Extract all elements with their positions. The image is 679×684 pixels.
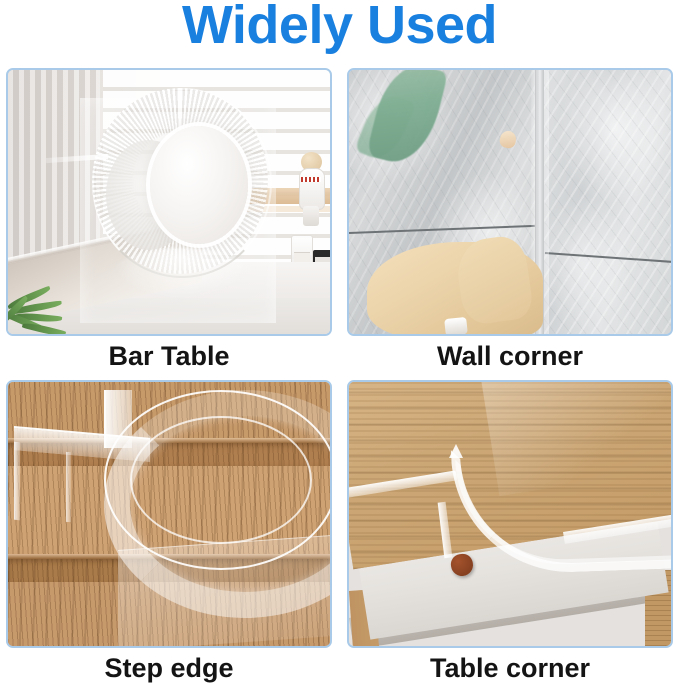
caption-wall-corner: Wall corner (347, 336, 673, 372)
page-title: Widely Used (0, 0, 679, 54)
astronaut-figurine (295, 152, 325, 234)
potted-plant (8, 288, 78, 334)
caption-bar-table: Bar Table (6, 336, 332, 372)
infographic-page: Widely Used (0, 0, 679, 683)
caption-table-corner: Table corner (347, 648, 673, 684)
astronaut-body (299, 168, 325, 210)
photo-bar-table (6, 68, 332, 336)
caption-step-edge: Step edge (6, 648, 332, 684)
tape-drop-left (14, 442, 20, 521)
panel-wall-corner: Wall corner (347, 68, 673, 368)
photo-table-corner (347, 380, 673, 648)
astronaut-legs (303, 206, 319, 226)
tape-drop-right (66, 452, 71, 522)
photo-wall-corner (347, 68, 673, 336)
panel-step-edge: Step edge (6, 380, 332, 680)
panel-table-corner: Table corner (347, 380, 673, 680)
tape-roll-reflection (112, 248, 252, 300)
panel-bar-table: Bar Table (6, 68, 332, 368)
photo-step-edge-scene (8, 382, 330, 646)
photo-table-corner-scene (349, 382, 671, 646)
tape-roll-core (150, 126, 248, 244)
usage-scenario-grid: Bar Table (0, 62, 679, 683)
photo-wall-corner-scene (349, 70, 671, 334)
astronaut-stripe (301, 177, 321, 182)
pointing-hand (367, 130, 587, 334)
tape-roll (92, 88, 268, 274)
photo-bar-table-scene (8, 70, 330, 334)
tape-curve-inner-edge (130, 416, 312, 544)
finger-ring (444, 317, 468, 334)
photo-step-edge (6, 380, 332, 648)
